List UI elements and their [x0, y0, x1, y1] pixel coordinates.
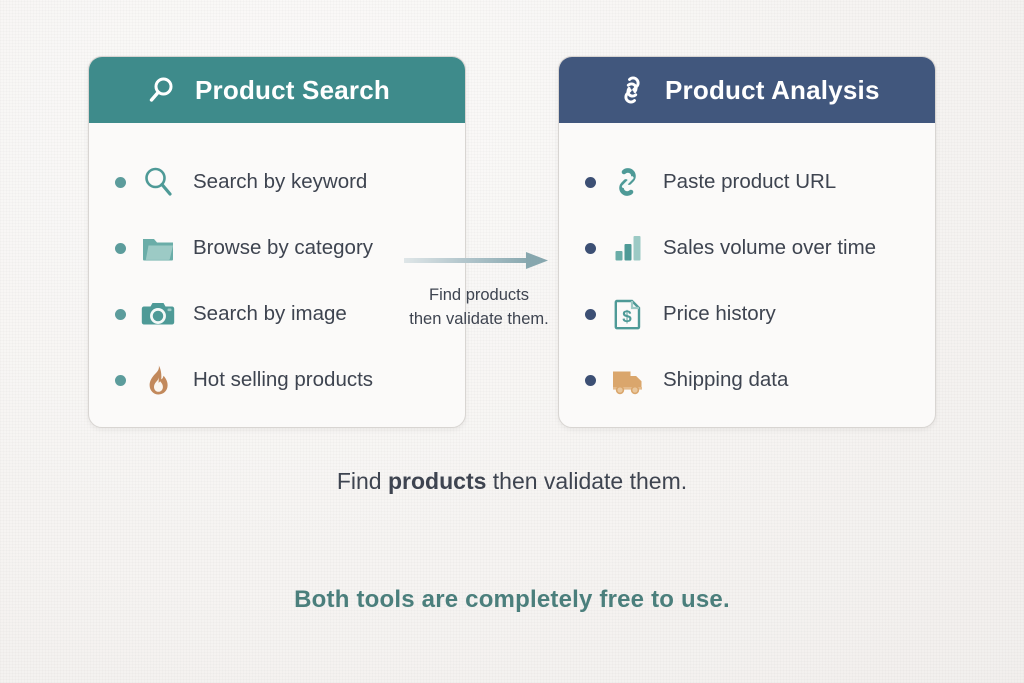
- list-item[interactable]: Search by keyword: [89, 149, 465, 215]
- list-item-label: Browse by category: [193, 236, 373, 260]
- list-item[interactable]: Shipping data: [559, 347, 935, 413]
- bullet-dot-icon: [585, 375, 596, 386]
- caption-prefix: Find: [337, 468, 388, 494]
- caption-strong: products: [388, 468, 486, 494]
- connector: Find products then validate them.: [404, 248, 554, 332]
- caption-free-to-use: Both tools are completely free to use.: [0, 586, 1024, 614]
- card-product-search: Product Search Search by keyword: [88, 56, 466, 428]
- link-icon: [610, 164, 646, 200]
- feature-list-analysis: Paste product URL Sales volume over time: [559, 149, 935, 413]
- bullet-dot-icon: [585, 243, 596, 254]
- bullet-dot-icon: [585, 177, 596, 188]
- connector-caption: Find products then validate them.: [404, 284, 554, 332]
- caption-suffix: then validate them.: [486, 468, 687, 494]
- caption-find-products: Find products then validate them.: [0, 468, 1024, 495]
- card-product-analysis: Product Analysis Paste p: [558, 56, 936, 428]
- infographic-stage: Product Search Search by keyword: [0, 0, 1024, 683]
- bullet-dot-icon: [115, 243, 126, 254]
- list-item-label: Search by keyword: [193, 170, 367, 194]
- arrow-right-icon: [404, 248, 554, 274]
- camera-icon: [140, 296, 176, 332]
- connector-caption-line2: then validate them.: [404, 308, 554, 332]
- truck-icon: [610, 362, 646, 398]
- svg-text:$: $: [622, 307, 632, 326]
- bullet-dot-icon: [115, 177, 126, 188]
- card-product-analysis-body: Paste product URL Sales volume over time: [559, 123, 935, 413]
- list-item[interactable]: Sales volume over time: [559, 215, 935, 281]
- bullet-dot-icon: [115, 309, 126, 320]
- list-item[interactable]: $ Price history: [559, 281, 935, 347]
- bullet-dot-icon: [585, 309, 596, 320]
- folder-icon: [140, 230, 176, 266]
- list-item-label: Sales volume over time: [663, 236, 876, 260]
- list-item-label: Paste product URL: [663, 170, 836, 194]
- bullet-dot-icon: [115, 375, 126, 386]
- card-product-analysis-header: Product Analysis: [559, 57, 935, 123]
- list-item[interactable]: Hot selling products: [89, 347, 465, 413]
- flame-icon: [140, 362, 176, 398]
- card-product-search-header: Product Search: [89, 57, 465, 123]
- card-product-search-title: Product Search: [195, 75, 390, 106]
- list-item-label: Search by image: [193, 302, 347, 326]
- list-item[interactable]: Paste product URL: [559, 149, 935, 215]
- magnifier-icon: [140, 164, 176, 200]
- connector-caption-line1: Find products: [404, 284, 554, 308]
- magnifier-icon: [145, 73, 179, 107]
- list-item-label: Price history: [663, 302, 776, 326]
- price-document-icon: $: [610, 296, 646, 332]
- bar-chart-icon: [610, 230, 646, 266]
- list-item-label: Hot selling products: [193, 368, 373, 392]
- list-item-label: Shipping data: [663, 368, 788, 392]
- link-icon: [615, 73, 649, 107]
- card-product-analysis-title: Product Analysis: [665, 75, 880, 106]
